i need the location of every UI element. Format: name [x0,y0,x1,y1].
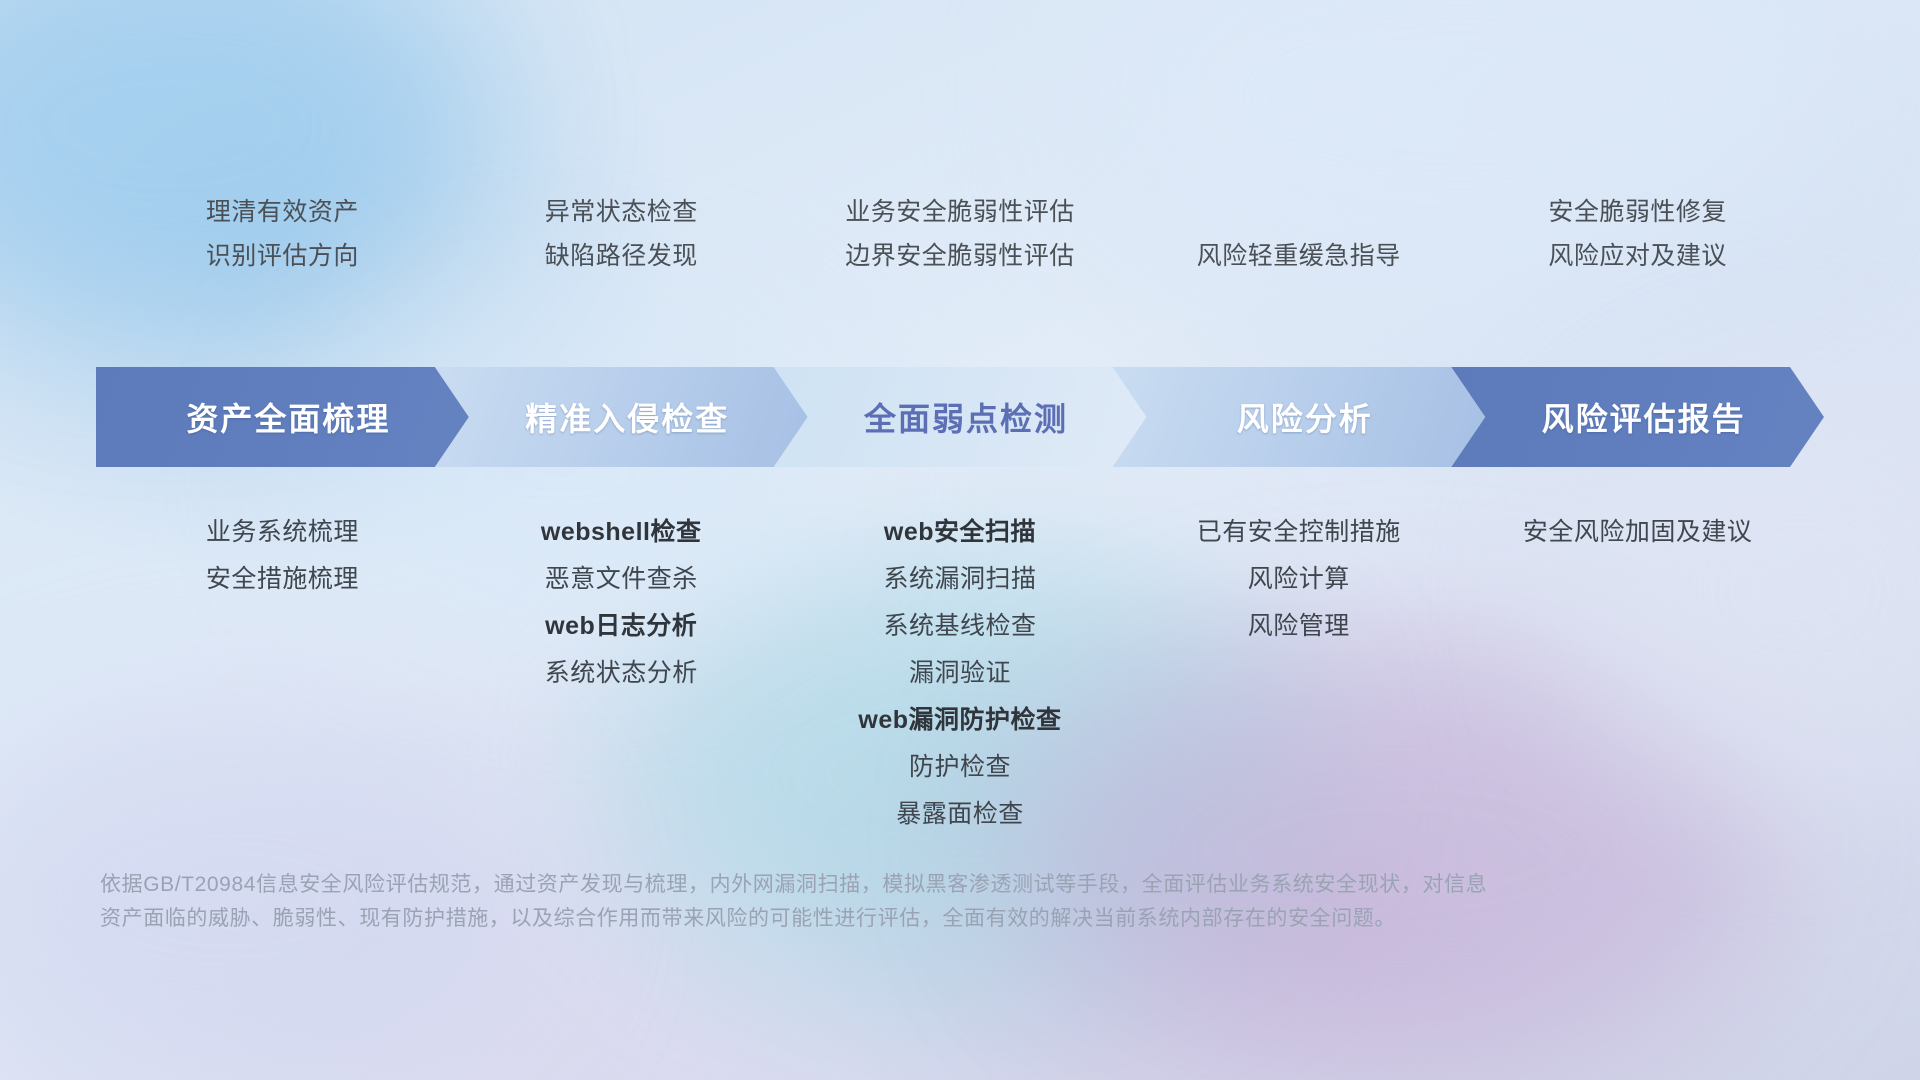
footer-line-1: 依据GB/T20984信息安全风险评估规范，通过资产发现与梳理，内外网漏洞扫描，… [100,868,1620,902]
process-step-label: 风险分析 [1225,394,1373,440]
footer-line-2: 资产面临的威胁、脆弱性、现有防护措施，以及综合作用而带来风险的可能性进行评估，全… [100,902,1620,936]
process-step-asset-inventory[interactable]: 资产全面梳理 [96,367,469,467]
stage-outcome: 理清有效资产 [206,197,359,227]
stage-outcome: 边界安全脆弱性评估 [845,241,1075,271]
slide-canvas: 理清有效资产识别评估方向业务系统梳理安全措施梳理异常状态检查缺陷路径发现webs… [0,0,1920,1080]
stage-outcomes-intrusion-check: 异常状态检查缺陷路径发现 [435,197,808,271]
process-step-label: 风险评估报告 [1530,394,1746,440]
stage-task: web日志分析 [545,611,697,641]
stage-outcomes-asset-inventory: 理清有效资产识别评估方向 [96,197,469,271]
stage-tasklist-risk-analysis: 已有安全控制措施风险计算风险管理 [1112,517,1485,641]
stage-outcome: 风险轻重缓急指导 [1197,241,1401,271]
stage-task: 漏洞验证 [909,658,1011,688]
stage-outcome: 异常状态检查 [545,197,698,227]
process-step-label: 精准入侵检查 [513,394,729,440]
stage-outcome: 识别评估方向 [206,241,359,271]
process-arrow-band: 资产全面梳理精准入侵检查全面弱点检测风险分析风险评估报告 [96,367,1824,467]
process-step-intrusion-check[interactable]: 精准入侵检查 [435,367,808,467]
process-step-assessment-report[interactable]: 风险评估报告 [1451,367,1824,467]
stage-tasklist-assessment-report: 安全风险加固及建议 [1451,517,1824,547]
stage-outcome: 业务安全脆弱性评估 [845,197,1075,227]
stage-task: 系统状态分析 [545,658,698,688]
stage-tasklist-asset-inventory: 业务系统梳理安全措施梳理 [96,517,469,594]
stage-outcome: 安全脆弱性修复 [1548,197,1727,227]
stage-task: 风险管理 [1248,611,1350,641]
stage-task: web安全扫描 [884,517,1036,547]
stage-outcomes-assessment-report: 安全脆弱性修复风险应对及建议 [1451,197,1824,271]
footer-description: 依据GB/T20984信息安全风险评估规范，通过资产发现与梳理，内外网漏洞扫描，… [100,868,1620,936]
stage-outcomes-weakness-detection: 业务安全脆弱性评估边界安全脆弱性评估 [774,197,1147,271]
process-step-weakness-detection[interactable]: 全面弱点检测 [774,367,1147,467]
stage-outcome: 风险应对及建议 [1548,241,1727,271]
process-step-label: 全面弱点检测 [852,394,1068,440]
stage-tasklist-intrusion-check: webshell检查恶意文件查杀web日志分析系统状态分析 [435,517,808,688]
stage-task: 风险计算 [1248,564,1350,594]
stage-task: 安全风险加固及建议 [1523,517,1753,547]
stage-outcome: 缺陷路径发现 [545,241,698,271]
stage-task: webshell检查 [541,517,702,547]
stage-task: 已有安全控制措施 [1197,517,1401,547]
stage-task: web漏洞防护检查 [858,705,1061,735]
stage-task: 系统基线检查 [883,611,1036,641]
stage-task: 系统漏洞扫描 [883,564,1036,594]
stage-tasklist-weakness-detection: web安全扫描系统漏洞扫描系统基线检查漏洞验证web漏洞防护检查防护检查暴露面检… [774,517,1147,829]
stage-task: 业务系统梳理 [206,517,359,547]
process-step-label: 资产全面梳理 [174,394,390,440]
stage-outcomes-risk-analysis: 风险轻重缓急指导 [1112,241,1485,271]
process-step-risk-analysis[interactable]: 风险分析 [1112,367,1485,467]
stage-task: 防护检查 [909,752,1011,782]
stage-task: 恶意文件查杀 [545,564,698,594]
stage-task: 暴露面检查 [896,799,1024,829]
slide-content: 理清有效资产识别评估方向业务系统梳理安全措施梳理异常状态检查缺陷路径发现webs… [0,0,1920,1080]
stage-task: 安全措施梳理 [206,564,359,594]
